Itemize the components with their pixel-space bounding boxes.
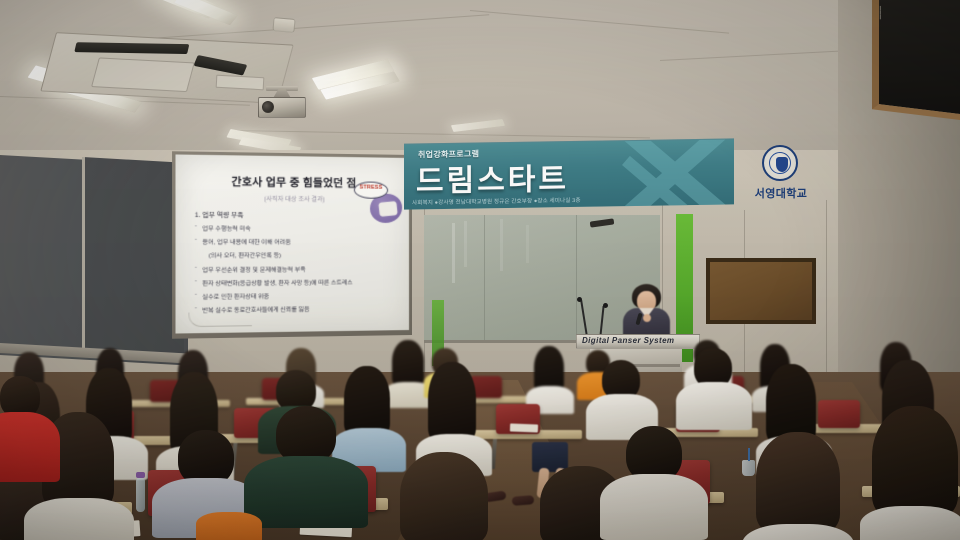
drinking-straw bbox=[748, 448, 750, 461]
smoke-detector bbox=[272, 17, 295, 33]
corner-panel-text: ━━━ bbox=[876, 6, 884, 46]
ceiling-access-hatch bbox=[216, 75, 265, 90]
slide-bullet-list: 1. 업무 역량 부족 업무 수행능력 미숙 용어, 업무 내용에 대한 이해 … bbox=[184, 210, 401, 315]
microphone-head bbox=[603, 303, 608, 308]
sandal bbox=[512, 495, 535, 506]
slide-bullet: (의사 오더, 환자간우인록 등) bbox=[195, 250, 401, 260]
plastic-cup bbox=[742, 460, 755, 476]
banner-title: 드림스타트 bbox=[416, 152, 666, 200]
water-bottle bbox=[136, 478, 145, 512]
corkboard bbox=[706, 258, 816, 324]
stress-cartoon: STRESS bbox=[354, 181, 402, 224]
presentation-slide: 간호사 업무 중 힘들었던 점 (사직자 대상 조사 결과) STRESS 1.… bbox=[175, 154, 409, 333]
slide-bullet: 환자 상태변화(응급상황 발생, 환자 사망 등)에 따른 스트레스 bbox=[195, 277, 401, 288]
lecture-chair bbox=[818, 400, 860, 428]
slide-bullet: 업무 우선순위 결정 및 문제해결능력 부족 bbox=[195, 264, 401, 274]
podium-label: Digital Panser System bbox=[582, 336, 694, 345]
university-name: 서영대학교 bbox=[744, 185, 818, 201]
sliding-whiteboard-panel-right bbox=[82, 157, 184, 359]
fluorescent-light-panel bbox=[451, 119, 505, 132]
ceiling-air-conditioner bbox=[40, 32, 294, 104]
ceiling-mounted-projector bbox=[258, 88, 306, 118]
lecture-hall-photo: ━━━ 간호사 업무 중 힘들었던 점 (사직자 대상 조사 결과) STRES… bbox=[0, 0, 960, 540]
stress-label: STRESS bbox=[356, 184, 386, 190]
university-sign: 서영대학교 bbox=[744, 145, 818, 207]
microphone-head bbox=[577, 297, 582, 302]
event-banner: 취업강화프로그램 드림스타트 사회복지 ●강사명 전남대학교병원 정규은 간호부… bbox=[404, 138, 734, 209]
university-crest-icon bbox=[762, 145, 798, 181]
projection-screen: 간호사 업무 중 힘들었던 점 (사직자 대상 조사 결과) STRESS 1.… bbox=[175, 154, 409, 333]
notebook-paper bbox=[510, 424, 538, 433]
slide-bullet: 업무 수행능력 미숙 bbox=[195, 223, 401, 233]
slide-bullet: 용어, 업무 내용에 대한 이해 어려움 bbox=[195, 237, 401, 246]
corner-dark-panel bbox=[872, 0, 960, 123]
speaker-person bbox=[618, 284, 674, 340]
fluorescent-light-panel bbox=[174, 0, 237, 25]
slide-bullet: 실수로 인한 환자상태 위중 bbox=[195, 290, 401, 301]
ceiling bbox=[0, 0, 960, 165]
